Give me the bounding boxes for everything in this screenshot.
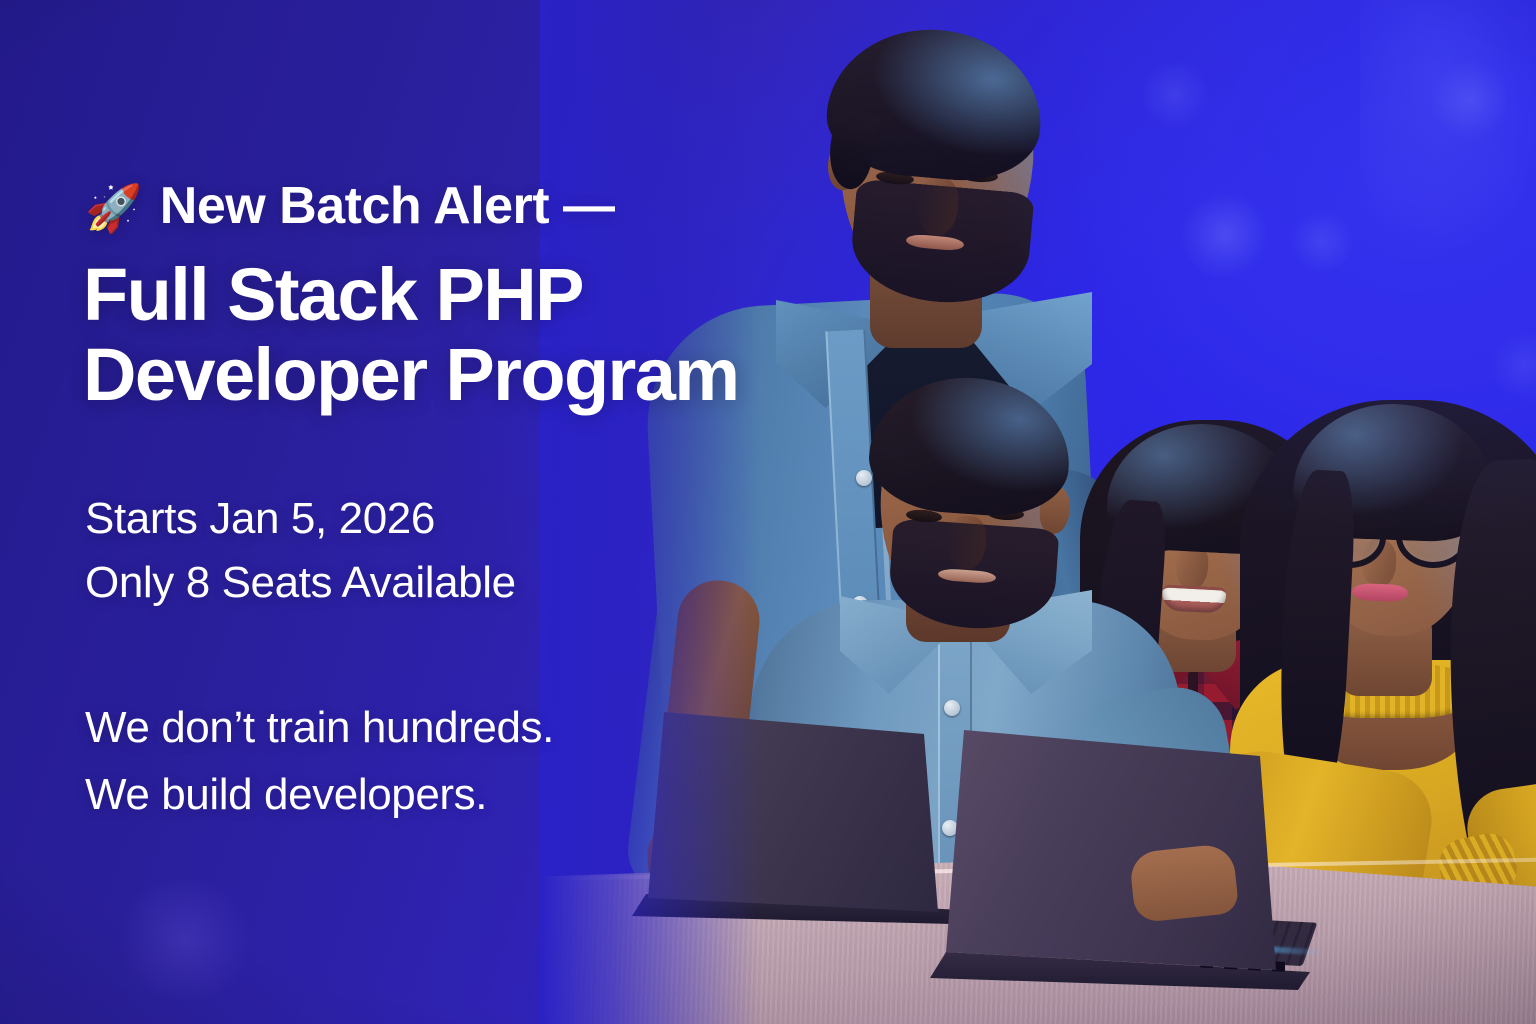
program-details: Starts Jan 5, 2026 Only 8 Seats Availabl… xyxy=(85,487,516,615)
banner-copy: 🚀 New Batch Alert — Full Stack PHP Devel… xyxy=(85,0,865,1024)
rocket-icon: 🚀 xyxy=(85,185,142,231)
woman-yellow-lips xyxy=(1352,583,1409,602)
woman-yellow-hand xyxy=(1129,843,1240,923)
headline-line-1: Full Stack PHP xyxy=(83,255,739,335)
tagline: We don’t train hundreds. We build develo… xyxy=(85,695,554,829)
tagline-line-1: We don’t train hundreds. xyxy=(85,695,554,762)
eyebrow-text: New Batch Alert — xyxy=(160,176,615,236)
seats-available-text: Only 8 Seats Available xyxy=(85,551,516,615)
page-title: Full Stack PHP Developer Program xyxy=(83,255,739,415)
shirt-button xyxy=(942,820,958,836)
promo-banner: 🚀 New Batch Alert — Full Stack PHP Devel… xyxy=(0,0,1536,1024)
eyebrow-line: 🚀 New Batch Alert — xyxy=(85,176,615,236)
start-date-text: Starts Jan 5, 2026 xyxy=(85,487,516,551)
shirt-button xyxy=(944,700,960,716)
tagline-line-2: We build developers. xyxy=(85,762,554,829)
headline-line-2: Developer Program xyxy=(83,335,739,415)
